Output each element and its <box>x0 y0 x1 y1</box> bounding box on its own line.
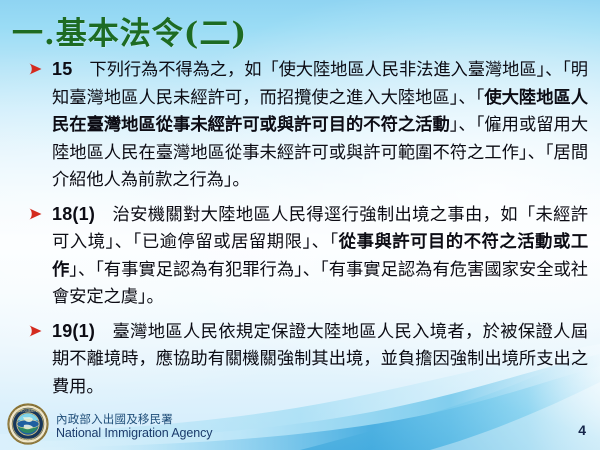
bullet-text: 15下列行為不得為之，如「使大陸地區人民非法進入臺灣地區」、「明知臺灣地區人民未… <box>52 56 588 195</box>
clause-number: 19(1) <box>52 321 95 341</box>
national-immigration-agency-emblem: 內政部入出國及移民署 IMMIGRATION <box>7 403 49 445</box>
clause-seg-2: 」、「有事實足認為有犯罪行為」、「有事實足認為有危害國家安全或社會安定之虞」。 <box>52 260 588 308</box>
slide-canvas: 一.基本法令(二) 15下列行為不得為之，如「使大陸地區人民非法進入臺灣地區」、… <box>0 0 600 450</box>
bullet-item: 15下列行為不得為之，如「使大陸地區人民非法進入臺灣地區」、「明知臺灣地區人民未… <box>28 56 588 195</box>
arrow-bullet-icon <box>28 62 44 76</box>
clause-number: 15 <box>52 59 72 79</box>
svg-text:內政部入出國及移民署: 內政部入出國及移民署 <box>15 408 41 412</box>
svg-text:IMMIGRATION: IMMIGRATION <box>20 438 36 441</box>
page-number: 4 <box>578 422 586 438</box>
footer-org-name-zh: 內政部入出國及移民署 <box>56 413 212 426</box>
bullet-item: 18(1)治安機關對大陸地區人民得逕行強制出境之事由，如「未經許可入境」、「已逾… <box>28 201 588 312</box>
bullet-item: 19(1)臺灣地區人民依規定保證大陸地區人民入境者，於被保證人屆期不離境時，應協… <box>28 318 588 402</box>
slide-title: 一.基本法令(二) <box>12 8 247 53</box>
footer-org-name: 內政部入出國及移民署 National Immigration Agency <box>56 413 212 440</box>
footer-org-name-en: National Immigration Agency <box>56 426 212 440</box>
clause-number: 18(1) <box>52 204 95 224</box>
bullet-text: 18(1)治安機關對大陸地區人民得逕行強制出境之事由，如「未經許可入境」、「已逾… <box>52 201 588 312</box>
arrow-bullet-icon <box>28 207 44 221</box>
slide-body: 15下列行為不得為之，如「使大陸地區人民非法進入臺灣地區」、「明知臺灣地區人民未… <box>28 56 588 407</box>
clause-seg-0: 臺灣地區人民依規定保證大陸地區人民入境者，於被保證人屆期不離境時，應協助有關機關… <box>52 322 588 397</box>
arrow-bullet-icon <box>28 324 44 338</box>
bullet-text: 19(1)臺灣地區人民依規定保證大陸地區人民入境者，於被保證人屆期不離境時，應協… <box>52 318 588 402</box>
